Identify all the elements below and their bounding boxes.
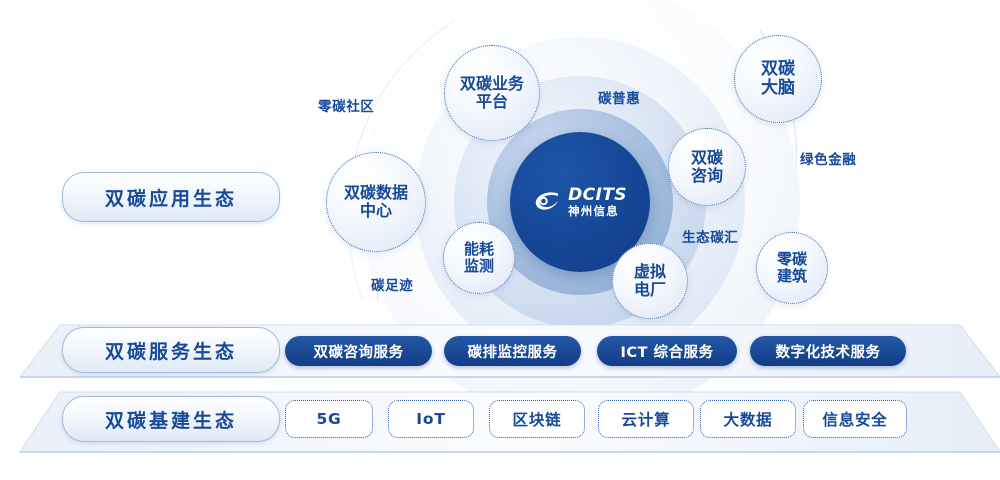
infra-pill-blockchain[interactable]: 区块链 — [489, 400, 585, 438]
diagram-canvas: DCITS 神州信息 双碳业务平台双碳大脑双碳数据中心双碳咨询能耗监测虚拟电厂零… — [0, 0, 1000, 476]
infra-pill-iot[interactable]: IoT — [388, 400, 474, 438]
tier-label-application[interactable]: 双碳应用生态 — [62, 172, 280, 222]
tier-label-service-text: 双碳服务生态 — [105, 337, 237, 364]
tier-label-infrastructure[interactable]: 双碳基建生态 — [62, 396, 280, 442]
service-pill-ict-service[interactable]: ICT 综合服务 — [597, 336, 737, 366]
infra-pill-5g[interactable]: 5G — [285, 400, 373, 438]
tier-label-application-text: 双碳应用生态 — [105, 184, 237, 211]
band-content: 双碳应用生态 双碳服务生态 双碳基建生态 双碳咨询服务碳排监控服务ICT 综合服… — [0, 0, 1000, 476]
infra-pill-bigdata[interactable]: 大数据 — [700, 400, 796, 438]
infra-pill-security[interactable]: 信息安全 — [803, 400, 907, 438]
service-pill-emission-monitor[interactable]: 碳排监控服务 — [444, 336, 581, 366]
service-pill-digital-service[interactable]: 数字化技术服务 — [750, 336, 906, 366]
tier-label-infrastructure-text: 双碳基建生态 — [105, 406, 237, 433]
tier-label-service[interactable]: 双碳服务生态 — [62, 327, 280, 373]
infra-pill-cloud[interactable]: 云计算 — [598, 400, 694, 438]
service-pill-consulting-service[interactable]: 双碳咨询服务 — [285, 336, 432, 366]
